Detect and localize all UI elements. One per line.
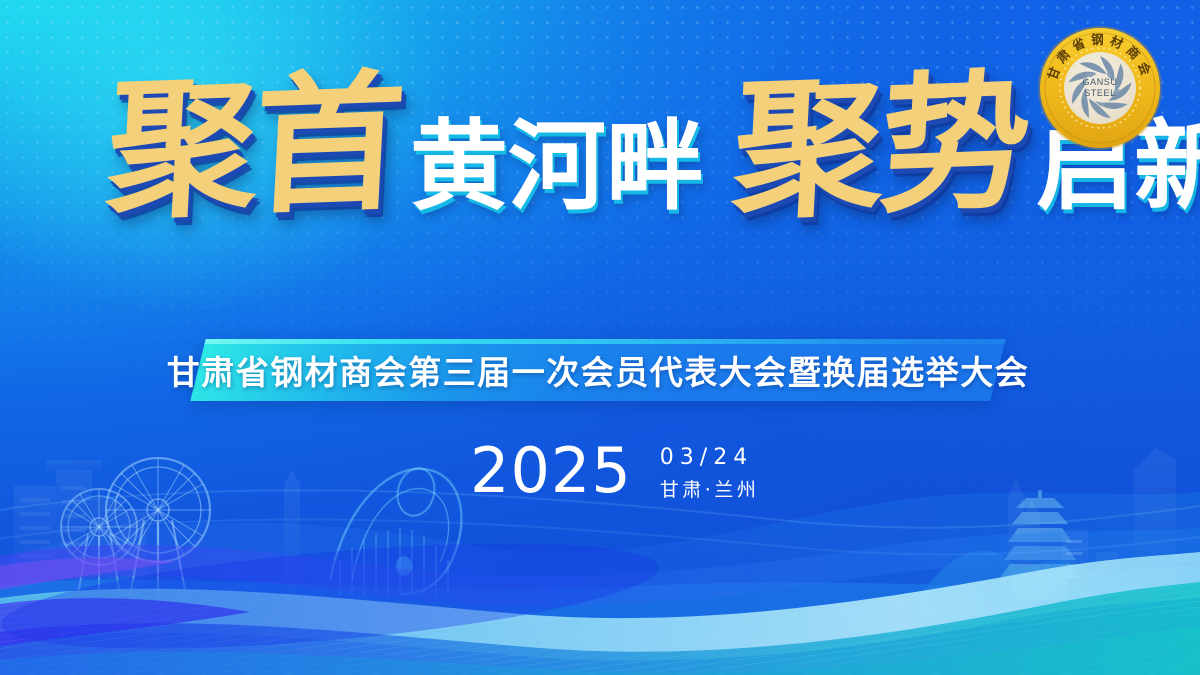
subtitle-text: 甘肃省钢材商会第三届一次会员代表大会暨换届选举大会: [198, 339, 998, 401]
date-block: 2025 03/24 甘肃·兰州: [470, 440, 759, 502]
logo-center-text-2: STEEL: [1084, 88, 1116, 98]
headline: 聚首 黄河畔 聚势 启新程: [0, 78, 1200, 308]
date-year: 2025: [470, 440, 632, 502]
association-logo: GANSU STEEL 甘肃省钢材商会: [1036, 24, 1164, 152]
headline-brush-2: 聚势: [730, 73, 1030, 221]
headline-plain-1: 黄河畔: [410, 118, 704, 216]
conference-banner: 聚首 黄河畔 聚势 启新程 甘肃省钢材商会第三届一次会员代表大会暨换届选举大会 …: [0, 0, 1200, 675]
subtitle-bar: 甘肃省钢材商会第三届一次会员代表大会暨换届选举大会: [198, 339, 998, 401]
date-location: 甘肃·兰州: [660, 475, 760, 502]
logo-center-text-1: GANSU: [1082, 77, 1117, 87]
logo-svg: GANSU STEEL 甘肃省钢材商会: [1036, 24, 1164, 152]
date-month-day: 03/24: [660, 445, 760, 470]
headline-brush-1: 聚首: [104, 73, 404, 221]
